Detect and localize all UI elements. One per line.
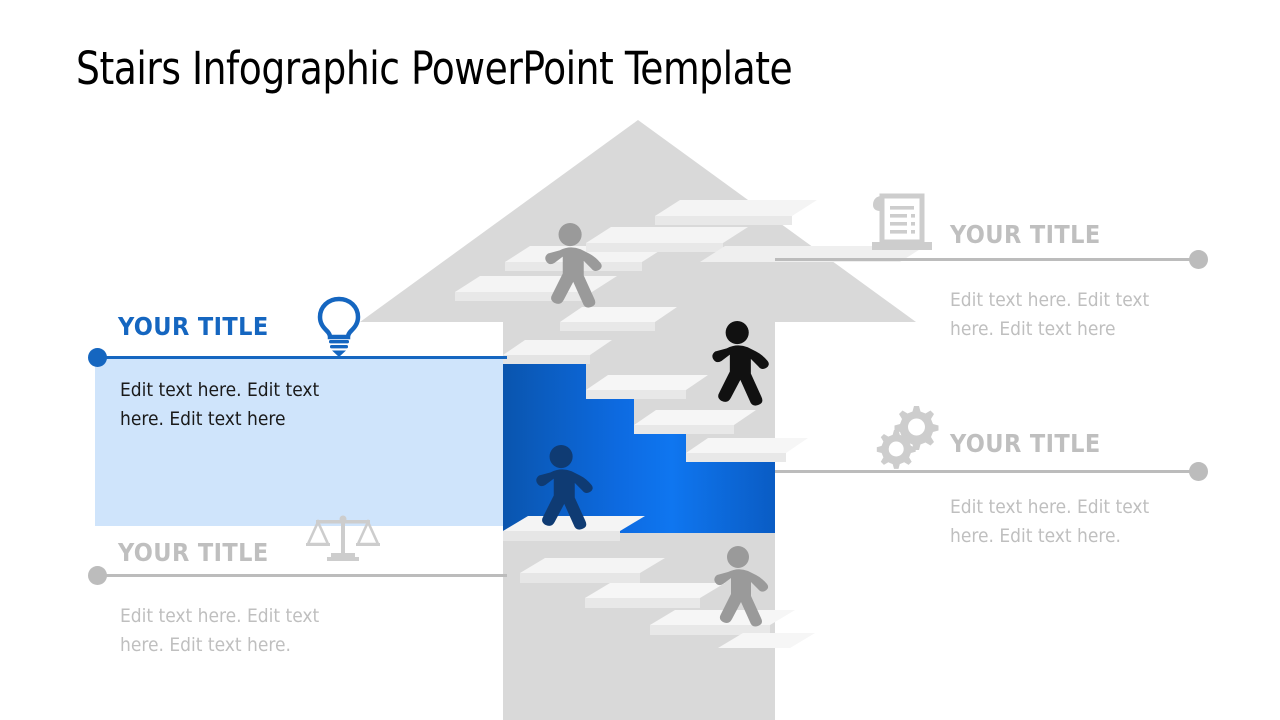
lightbulb-icon [313,295,365,353]
item-left-top-title: YOUR TITLE [118,312,269,341]
item-right-top-marker-dot[interactable] [1189,250,1208,269]
item-right-top-rule [775,258,1199,261]
slide-canvas: Stairs Infographic PowerPoint Template [0,0,1280,720]
item-right-bottom-marker-dot[interactable] [1189,462,1208,481]
item-right-bottom-rule [775,470,1199,473]
scales-icon [306,512,380,564]
document-icon [868,192,936,254]
item-right-top-body: Edit text here. Edit text here. Edit tex… [950,286,1165,344]
item-left-top-body: Edit text here. Edit text here. Edit tex… [120,376,335,434]
item-left-bottom-title: YOUR TITLE [118,538,269,567]
item-left-bottom-body: Edit text here. Edit text here. Edit tex… [120,602,335,660]
item-right-bottom-title: YOUR TITLE [950,429,1101,458]
gears-icon [876,406,940,468]
item-right-top-title: YOUR TITLE [950,220,1101,249]
item-left-top-rule [97,356,507,359]
item-right-bottom-body: Edit text here. Edit text here. Edit tex… [950,493,1165,551]
item-left-bottom-rule [97,574,507,577]
